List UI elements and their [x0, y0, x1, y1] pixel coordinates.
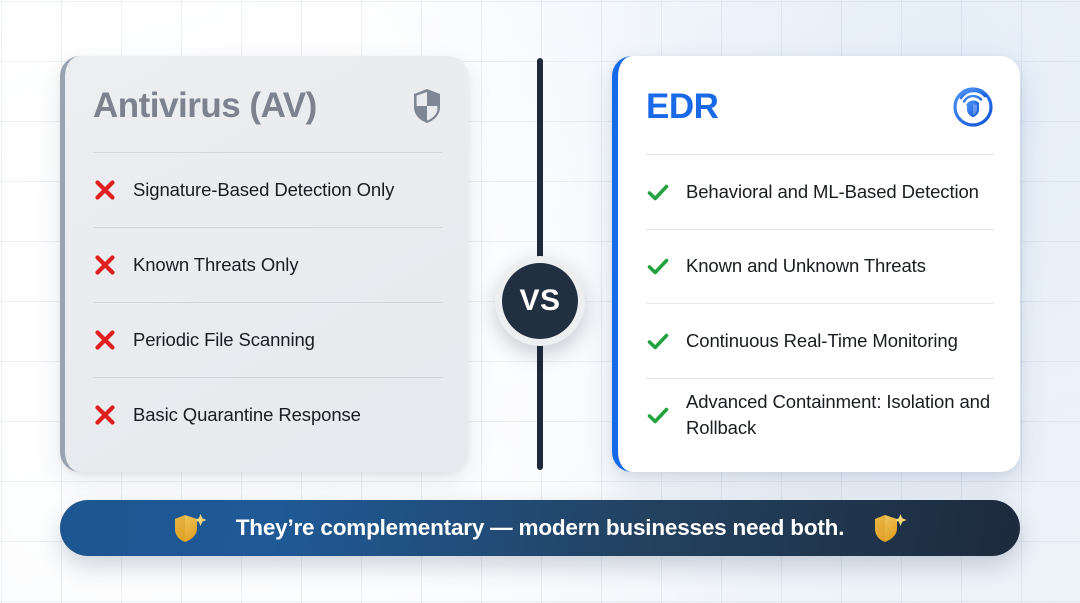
edr-card-header: EDR [646, 86, 994, 154]
radar-shield-icon [952, 86, 994, 128]
list-item-label: Continuous Real-Time Monitoring [686, 328, 958, 354]
list-item: Advanced Containment: Isolation and Roll… [646, 378, 994, 453]
list-item: Continuous Real-Time Monitoring [646, 303, 994, 378]
check-icon [646, 403, 670, 427]
edr-card: EDR [612, 56, 1020, 472]
comparison-stage: Antivirus (AV) Signature-Based Detection… [0, 0, 1080, 603]
check-icon [646, 329, 670, 353]
antivirus-card: Antivirus (AV) Signature-Based Detection… [60, 56, 468, 472]
check-icon [646, 254, 670, 278]
edr-title: EDR [646, 87, 718, 127]
list-item: Known and Unknown Threats [646, 229, 994, 304]
list-item-label: Known Threats Only [133, 252, 298, 278]
cross-icon [93, 328, 117, 352]
list-item-label: Signature-Based Detection Only [133, 177, 394, 203]
antivirus-feature-list: Signature-Based Detection Only Known Thr… [93, 152, 442, 452]
list-item-label: Periodic File Scanning [133, 327, 315, 353]
cross-icon [93, 403, 117, 427]
edr-feature-list: Behavioral and ML-Based Detection Known … [646, 154, 994, 452]
list-item: Signature-Based Detection Only [93, 152, 442, 227]
list-item: Behavioral and ML-Based Detection [646, 154, 994, 229]
footer-banner: They’re complementary — modern businesse… [60, 500, 1020, 556]
list-item-label: Advanced Containment: Isolation and Roll… [686, 389, 994, 442]
cross-icon [93, 178, 117, 202]
vs-badge: VS [495, 256, 585, 346]
antivirus-title: Antivirus (AV) [93, 86, 317, 126]
footer-message: They’re complementary — modern businesse… [236, 515, 845, 541]
list-item-label: Behavioral and ML-Based Detection [686, 179, 979, 205]
cross-icon [93, 253, 117, 277]
list-item-label: Known and Unknown Threats [686, 253, 926, 279]
list-item: Basic Quarantine Response [93, 377, 442, 452]
antivirus-card-header: Antivirus (AV) [93, 86, 442, 152]
list-item: Periodic File Scanning [93, 302, 442, 377]
list-item-label: Basic Quarantine Response [133, 402, 361, 428]
check-icon [646, 180, 670, 204]
shield-sparkle-icon [872, 511, 908, 545]
shield-icon [412, 88, 442, 124]
shield-sparkle-icon [172, 511, 208, 545]
list-item: Known Threats Only [93, 227, 442, 302]
vs-label: VS [519, 284, 560, 318]
